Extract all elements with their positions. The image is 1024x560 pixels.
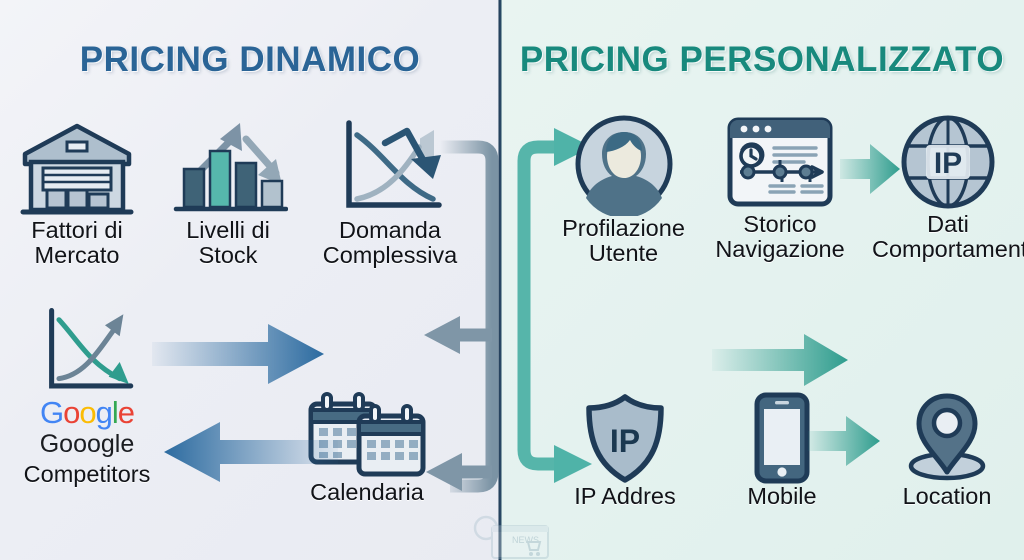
node-ip-addres: IP IP Addres [548, 392, 702, 509]
node-domanda-complessiva: Domanda Complessiva [300, 113, 480, 268]
bar-chart-arrows-icon [168, 113, 288, 218]
browser-history-icon [724, 112, 836, 212]
infographic-canvas: PRICING DINAMICO PRICING PERSONALIZZATO [0, 0, 1024, 560]
globe-ip-icon: IP [898, 112, 998, 212]
warehouse-icon [17, 118, 137, 218]
node-label: Profilazione [546, 216, 701, 241]
node-profilazione-utente: Profilazione Utente [546, 112, 701, 266]
node-label: Competitors [2, 462, 172, 487]
right-mid-arrow [712, 330, 852, 390]
node-label: Livelli di [155, 218, 301, 243]
node-competitors: Google Gooogle Competitors [2, 305, 172, 487]
node-label: Complessiva [300, 243, 480, 268]
node-label: Domanda [300, 218, 480, 243]
left-arrow-left [150, 414, 340, 490]
map-pin-icon [897, 392, 997, 484]
google-text-label: Gooogle [2, 430, 172, 459]
user-avatar-icon [572, 112, 676, 216]
left-panel-title: PRICING DINAMICO [0, 40, 500, 80]
watermark-text: NEWS [512, 535, 539, 545]
mobile-to-location-arrow [808, 412, 882, 470]
left-arrow-right [150, 316, 330, 392]
shield-ip-icon: IP [579, 392, 671, 484]
globe-ip-text: IP [934, 147, 962, 180]
shield-ip-text: IP [610, 423, 640, 459]
news-cart-watermark: NEWS [466, 512, 562, 560]
node-label: Mobile [712, 484, 852, 509]
smartphone-icon [751, 392, 813, 484]
node-label: Mercato [2, 243, 152, 268]
node-label: Location [872, 484, 1022, 509]
node-label: Stock [155, 243, 301, 268]
right-panel-title: PRICING PERSONALIZZATO [500, 40, 1024, 80]
node-label: Fattori di [2, 218, 152, 243]
node-livelli-stock: Livelli di Stock [155, 113, 301, 268]
node-fattori-mercato: Fattori di Mercato [2, 118, 152, 268]
supply-demand-curve-icon [329, 113, 451, 218]
node-label: Navigazione [700, 237, 860, 262]
node-label: Utente [546, 241, 701, 266]
node-label: IP Addres [548, 484, 702, 509]
node-storico-navigazione: Storico Navigazione [700, 112, 860, 262]
node-location: Location [872, 392, 1022, 509]
google-logo: Google [2, 397, 172, 428]
node-label: Comportamentali [872, 237, 1024, 262]
supply-demand-curve-icon [30, 305, 145, 397]
node-label: Storico [700, 212, 860, 237]
node-dati-comportamentali: IP Dati Comportamentali [872, 112, 1024, 262]
node-label: Dati [872, 212, 1024, 237]
